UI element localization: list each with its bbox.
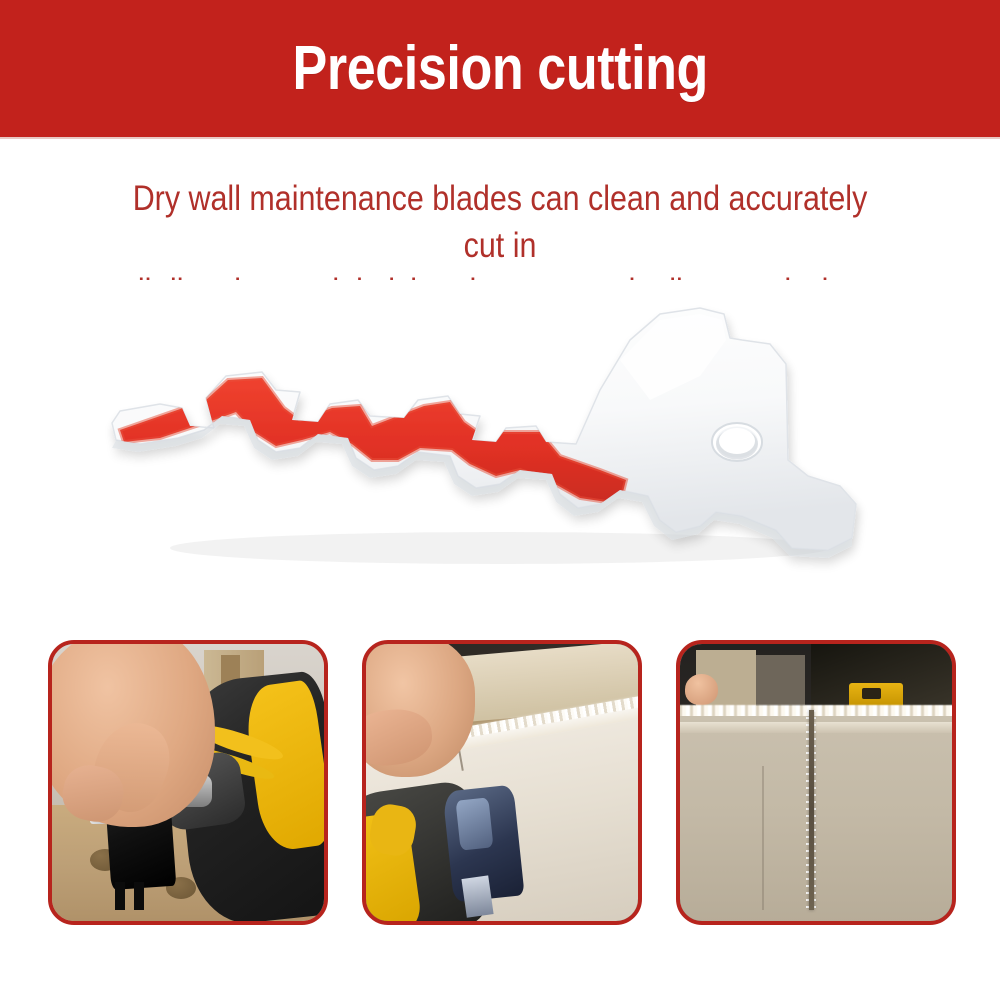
- panel-seam: [762, 766, 764, 910]
- drywall-panel: [680, 716, 952, 921]
- blade-illustration: [0, 280, 1000, 610]
- blade-group: [112, 308, 856, 558]
- product-infographic: Precision cutting Dry wall maintenance b…: [0, 0, 1000, 1000]
- blade-tooth: [115, 882, 126, 910]
- header-banner: Precision cutting: [0, 0, 1000, 137]
- blade-tooth: [134, 882, 145, 910]
- mounting-hole-bore: [719, 428, 755, 454]
- photo-cutting-drywall-image: [366, 644, 638, 921]
- thumb: [685, 674, 718, 704]
- yellow-tool-case-label: [862, 688, 881, 699]
- photo-install-blade-image: [52, 644, 324, 921]
- photo-clean-cut-result-image: [680, 644, 952, 921]
- saw-shoe-highlight: [456, 798, 494, 851]
- blade-shadow: [170, 532, 830, 564]
- page-title: Precision cutting: [292, 38, 707, 100]
- banner-underline: [0, 137, 1000, 139]
- blade-in-cut: [461, 875, 493, 917]
- drywall-top-edge: [680, 722, 952, 733]
- photo-install-blade[interactable]: [48, 640, 328, 925]
- hero-product-image: [0, 280, 1000, 610]
- photo-cutting-drywall[interactable]: [362, 640, 642, 925]
- photo-strip: [0, 640, 1000, 930]
- photo-clean-cut-result[interactable]: [676, 640, 956, 925]
- background-shelf: [756, 655, 805, 705]
- finished-cut-line: [809, 710, 814, 909]
